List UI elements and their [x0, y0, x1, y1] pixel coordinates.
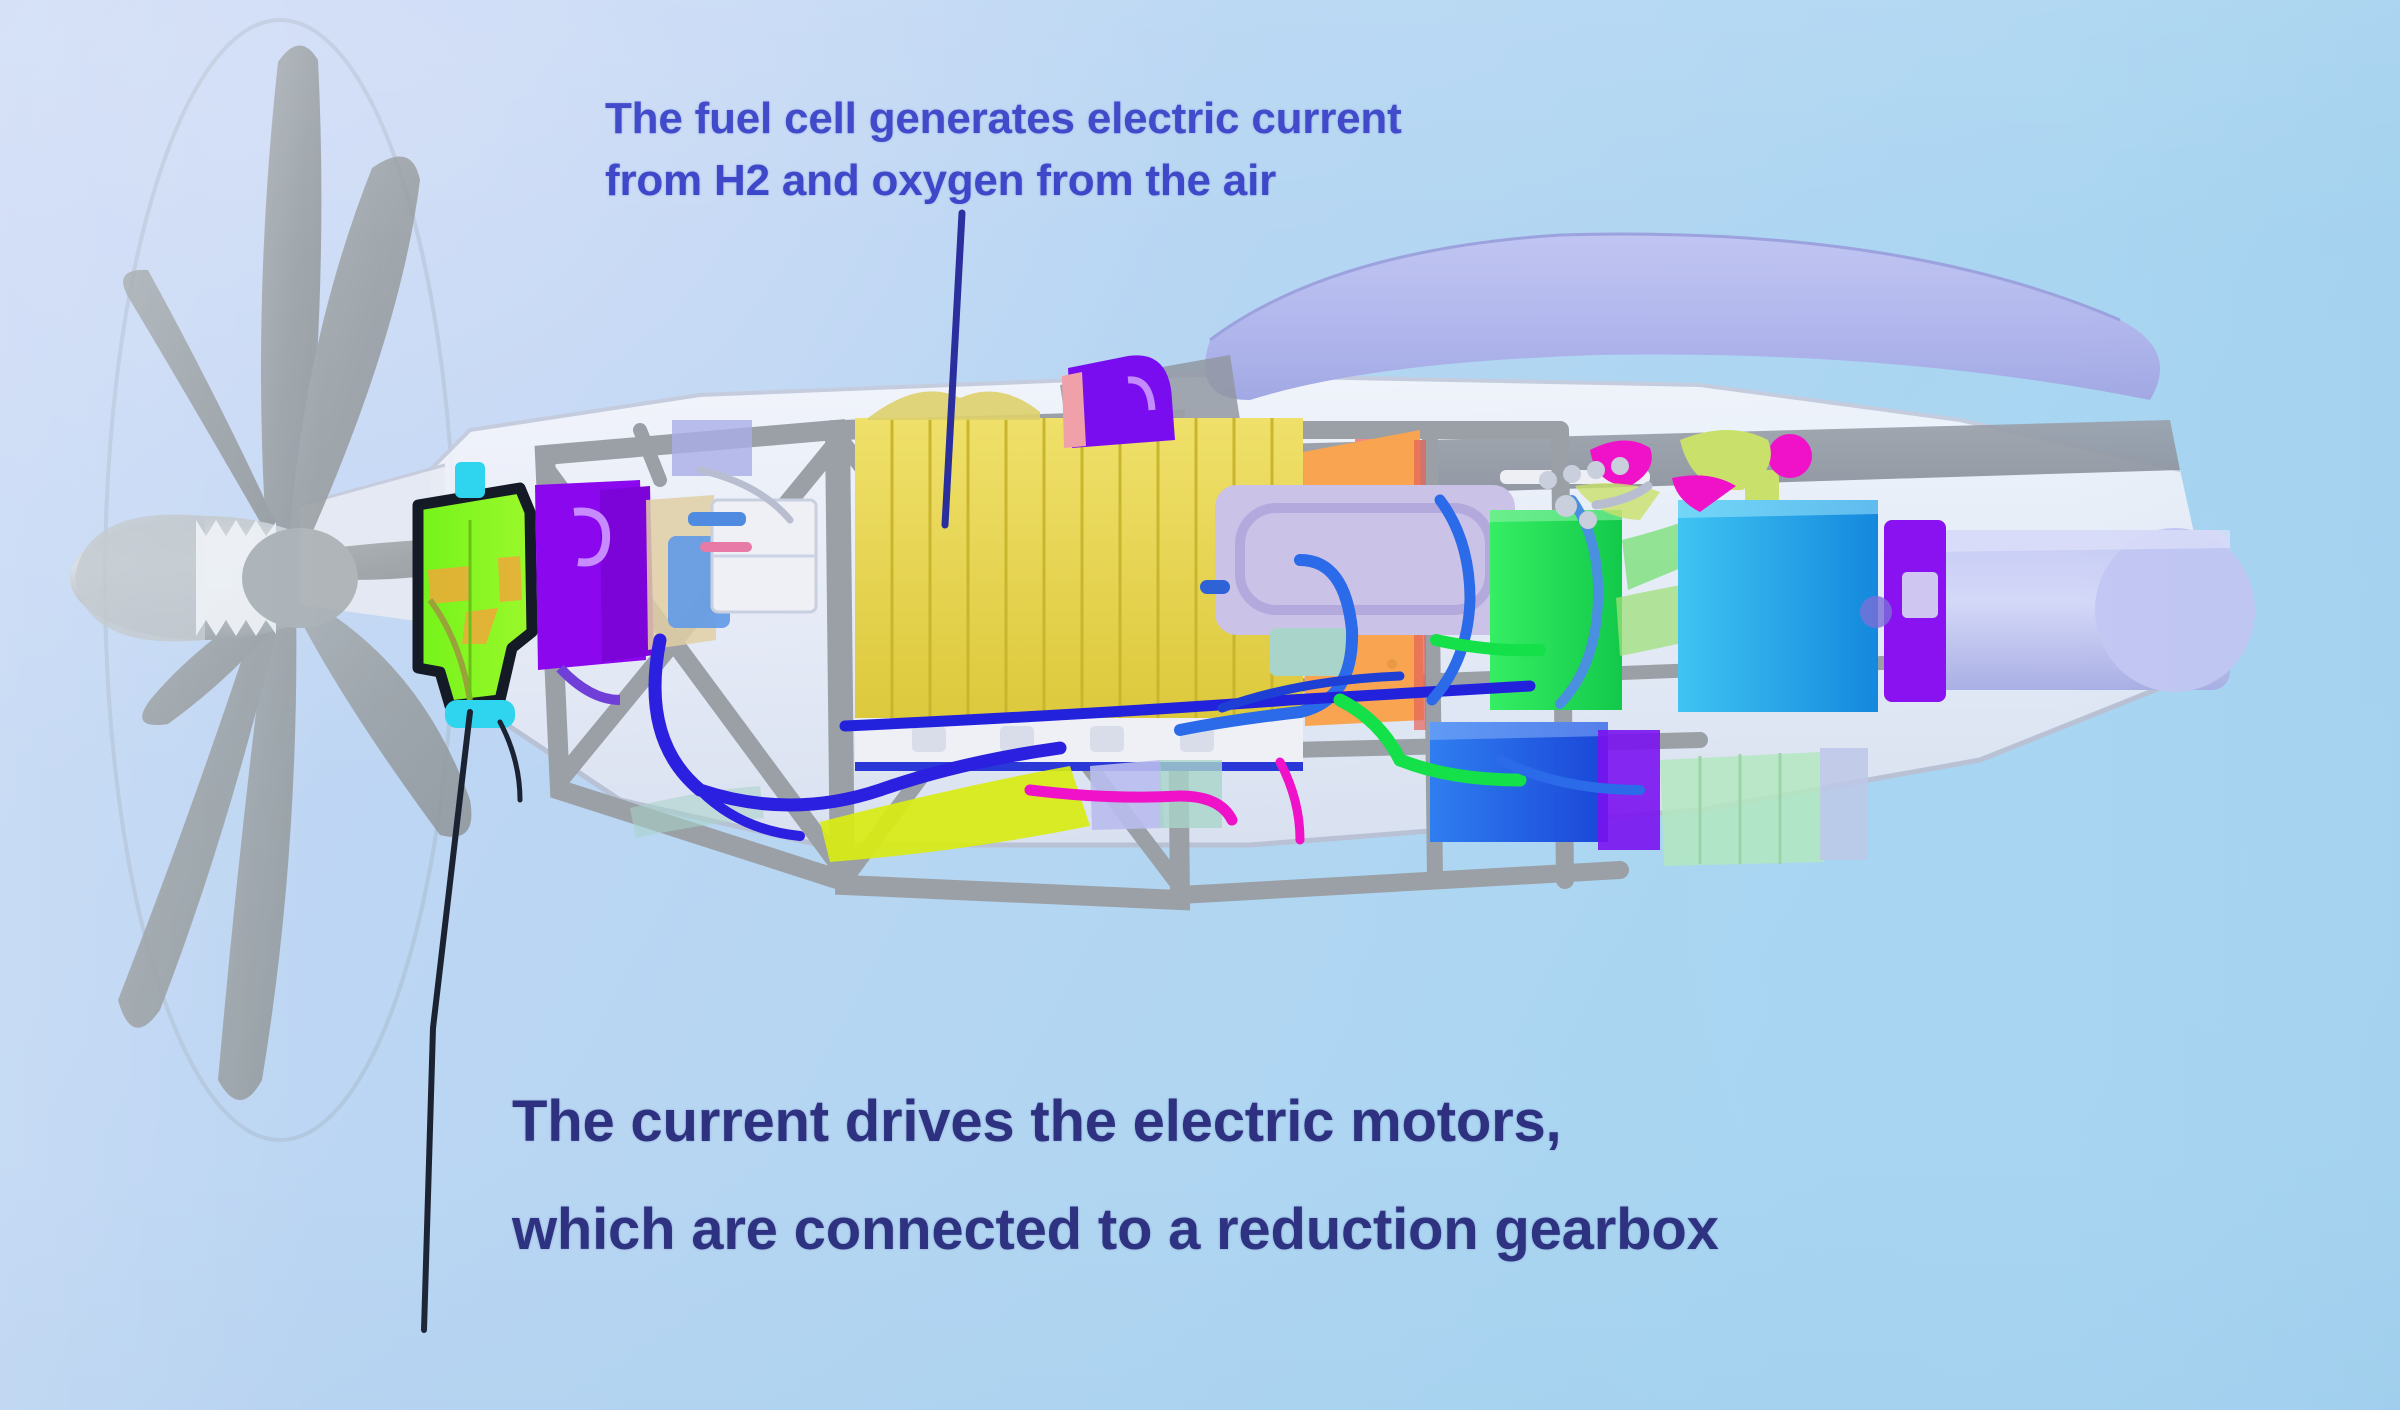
- hydrogen-tank: [1860, 520, 2255, 702]
- callout-motor-gearbox-line2: which are connected to a reduction gearb…: [512, 1197, 1719, 1262]
- callout-motor-gearbox-line1: The current drives the electric motors,: [512, 1089, 1561, 1154]
- callout-fuel-cell-line2: from H2 and oxygen from the air: [605, 156, 1276, 205]
- slide-canvas: The fuel cell generates electric current…: [0, 0, 2400, 1410]
- air-compressor: [1062, 355, 1175, 448]
- wing: [1205, 234, 2160, 400]
- callout-motor-gearbox: The current drives the electric motors, …: [512, 1068, 1719, 1284]
- callout-fuel-cell: The fuel cell generates electric current…: [605, 88, 1402, 212]
- callout-fuel-cell-line1: The fuel cell generates electric current: [605, 94, 1402, 143]
- spinner-cone: [70, 515, 358, 642]
